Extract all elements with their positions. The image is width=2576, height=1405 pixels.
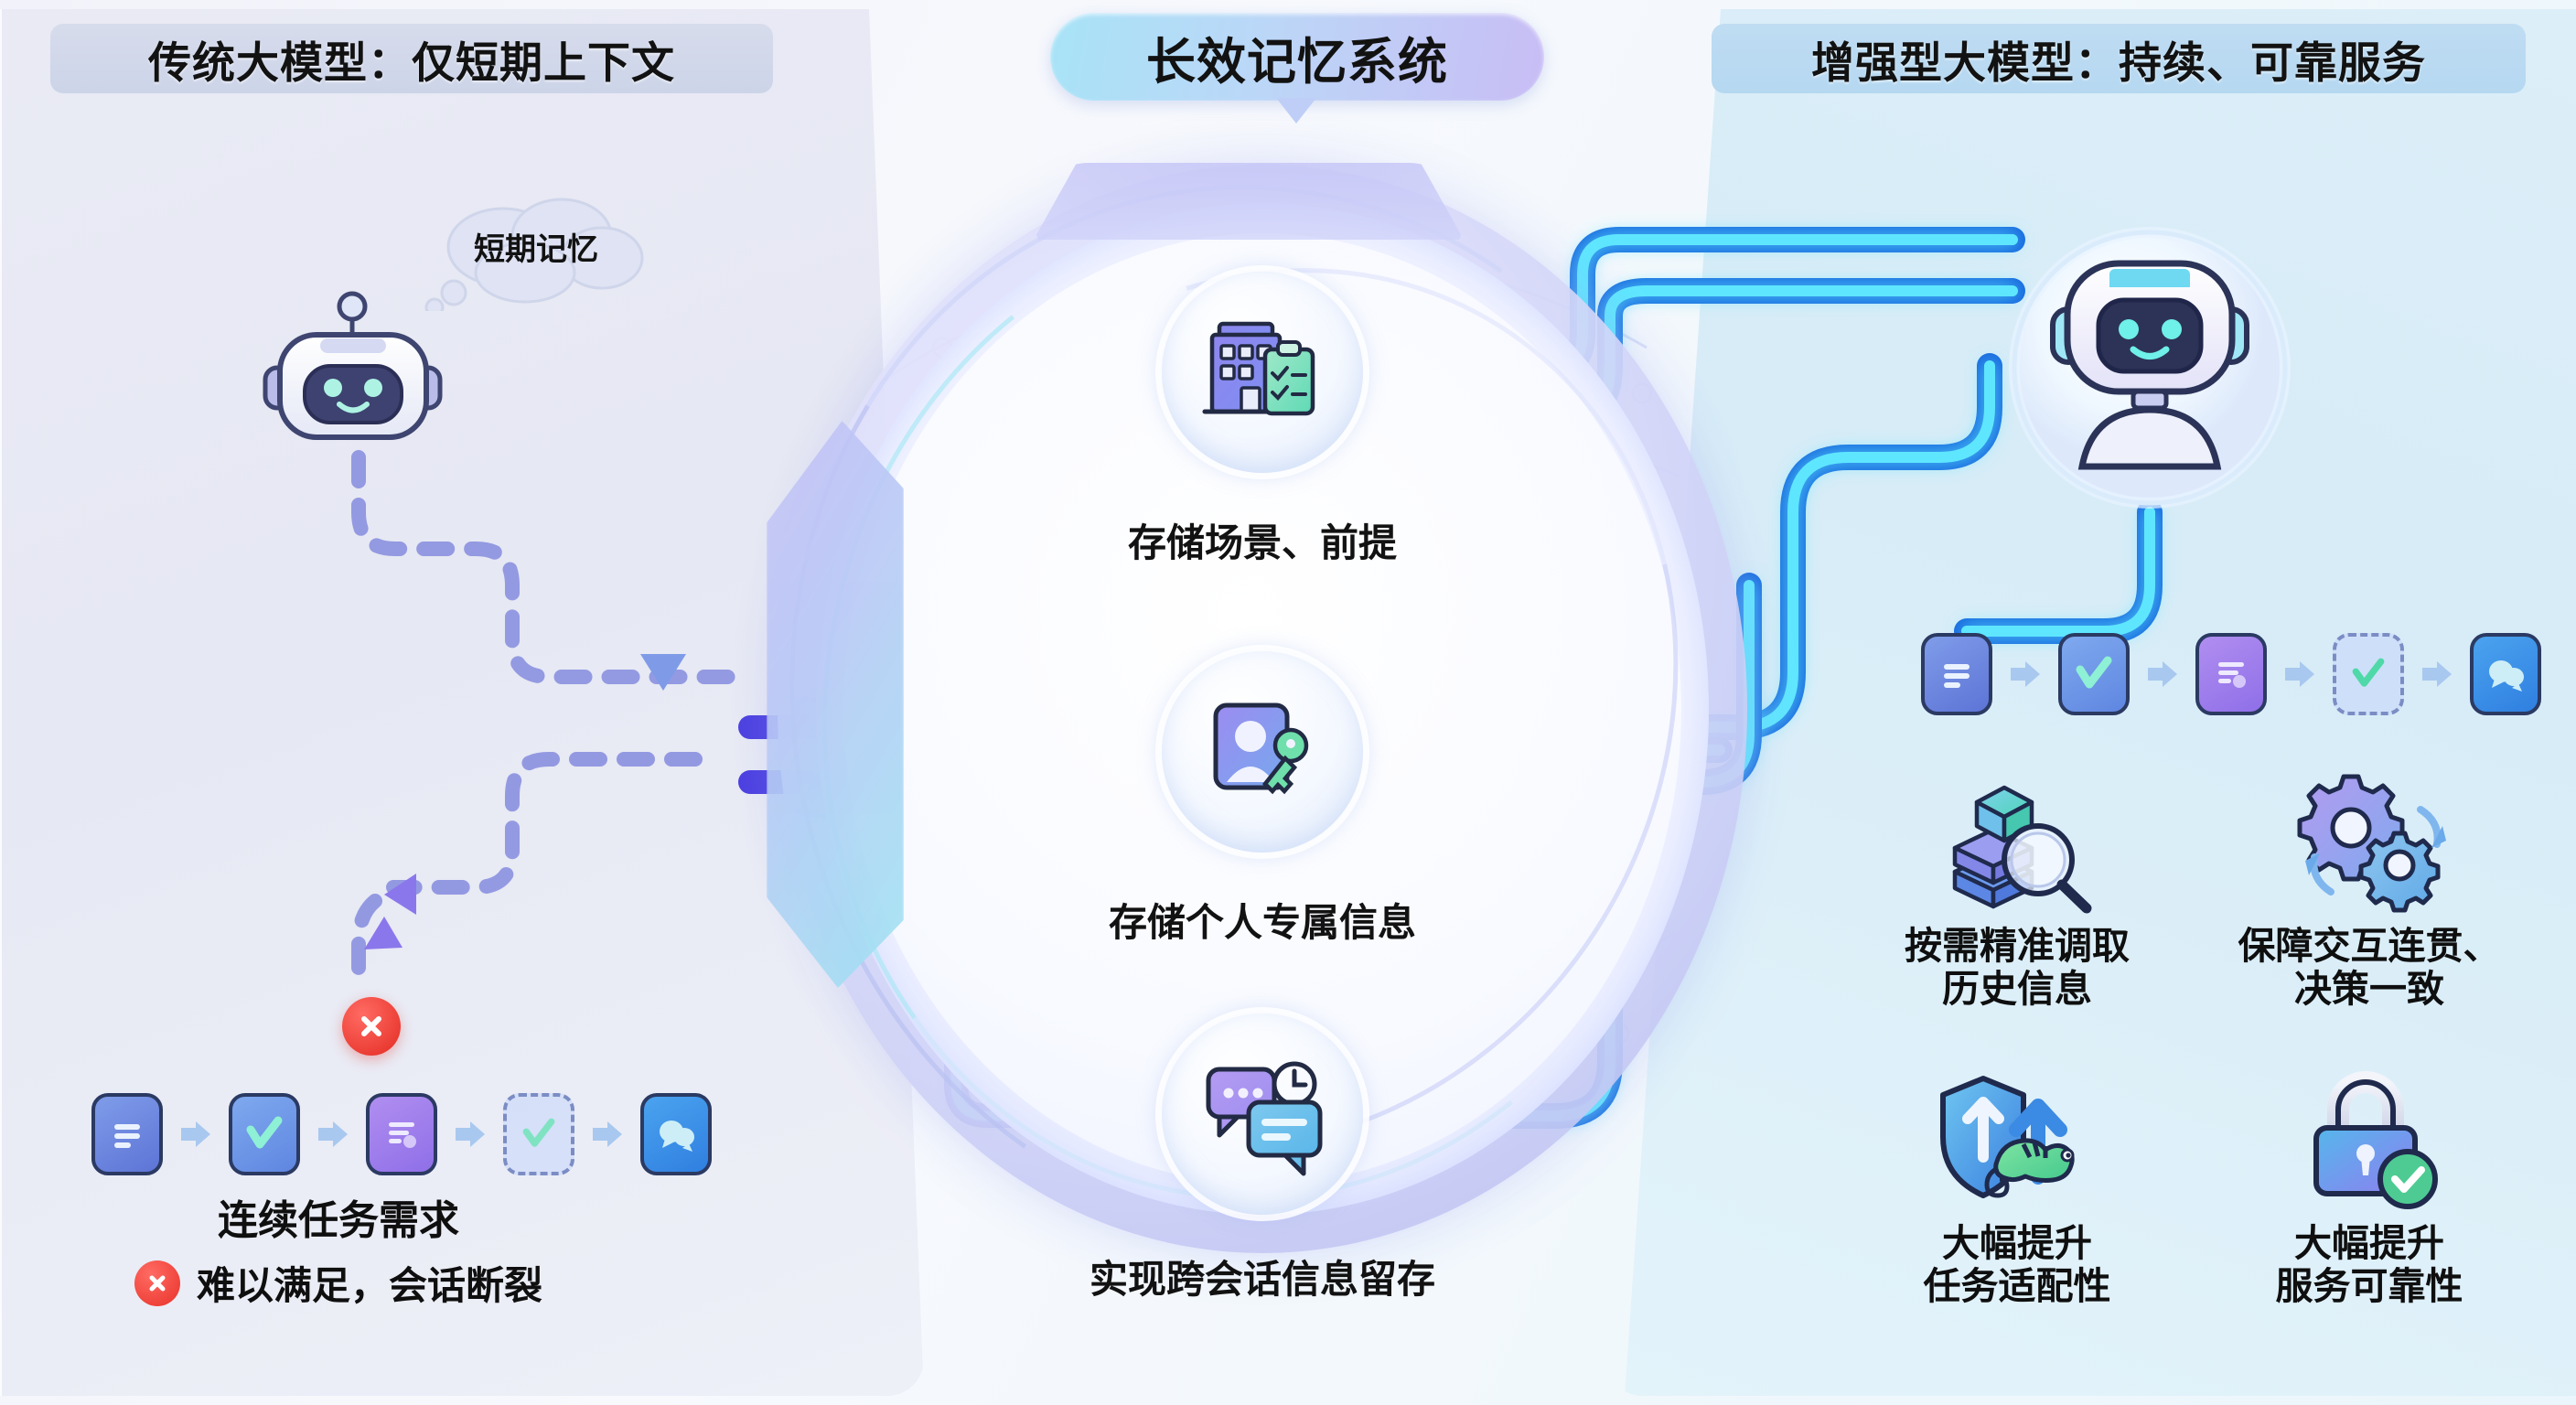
feature-retrieval: 按需精准调取 历史信息 bbox=[1871, 759, 2163, 1010]
chevron-right-icon bbox=[2419, 659, 2455, 690]
feature-retrieval-line1: 按需精准调取 bbox=[1871, 925, 2163, 968]
node-session[interactable] bbox=[1162, 1014, 1363, 1215]
enhanced-robot bbox=[2003, 221, 2296, 514]
feature-consistency-line1: 保障交互连贯、 bbox=[2223, 925, 2516, 968]
left-failure-note: 难以满足，会话断裂 bbox=[55, 1255, 622, 1311]
feature-reliability-line1: 大幅提升 bbox=[2223, 1222, 2516, 1265]
dashed-check-icon bbox=[503, 1093, 574, 1175]
feature-consistency: 保障交互连贯、 决策一致 bbox=[2223, 759, 2516, 1010]
red-x-icon bbox=[134, 1260, 180, 1306]
chat-bubble-icon bbox=[640, 1093, 712, 1175]
arrow-to-x bbox=[364, 917, 402, 949]
chevron-right-icon bbox=[2281, 659, 2318, 690]
right-task-chain bbox=[1921, 633, 2541, 715]
node-profile-label: 存储个人专属信息 bbox=[979, 892, 1546, 948]
feature-reliability: 大幅提升 服务可靠性 bbox=[2223, 1056, 2516, 1307]
feature-consistency-line2: 决策一致 bbox=[2223, 968, 2516, 1011]
feature-retrieval-line2: 历史信息 bbox=[1871, 968, 2163, 1011]
node-profile[interactable] bbox=[1162, 651, 1363, 853]
chevron-right-icon bbox=[315, 1119, 351, 1150]
legacy-robot-icon bbox=[254, 291, 451, 446]
feature-reliability-line2: 服务可靠性 bbox=[2223, 1265, 2516, 1308]
chat-clock-icon bbox=[1192, 1046, 1334, 1183]
chevron-right-icon bbox=[452, 1119, 488, 1150]
chat-bubble-icon bbox=[2470, 633, 2541, 715]
feature-adaptability: 大幅提升 任务适配性 bbox=[1871, 1056, 2163, 1307]
document-dot-icon bbox=[366, 1093, 437, 1175]
center-title-badge: 长效记忆系统 bbox=[1050, 13, 1544, 101]
lock-check-icon bbox=[2223, 1056, 2516, 1217]
database-magnifier-icon bbox=[1871, 759, 2163, 919]
left-chain-title: 连续任务需求 bbox=[55, 1187, 622, 1246]
feature-adaptability-line2: 任务适配性 bbox=[1871, 1265, 2163, 1308]
node-scene[interactable] bbox=[1162, 272, 1363, 473]
red-x-icon-break bbox=[342, 997, 401, 1056]
hub-left-blob bbox=[767, 421, 904, 988]
document-lines-icon bbox=[91, 1093, 163, 1175]
building-clipboard-icon bbox=[1194, 304, 1331, 441]
gears-cycle-icon bbox=[2223, 759, 2516, 919]
right-panel-title: 增强型大模型：持续、可靠服务 bbox=[1712, 24, 2526, 93]
left-task-chain bbox=[91, 1093, 712, 1175]
chevron-right-icon bbox=[2144, 659, 2181, 690]
check-mark-icon bbox=[2058, 633, 2130, 715]
id-card-key-icon bbox=[1194, 683, 1331, 820]
dashed-check-icon bbox=[2333, 633, 2404, 715]
chevron-right-icon bbox=[177, 1119, 214, 1150]
document-dot-icon bbox=[2195, 633, 2267, 715]
shield-chameleon-icon bbox=[1871, 1056, 2163, 1217]
infographic-canvas: 传统大模型：仅短期上下文 长效记忆系统 增强型大模型：持续、可靠服务 短期记忆 bbox=[0, 0, 2576, 1405]
document-lines-icon bbox=[1921, 633, 1992, 715]
node-scene-label: 存储场景、前提 bbox=[979, 512, 1546, 568]
left-panel-title: 传统大模型：仅短期上下文 bbox=[50, 24, 773, 93]
left-failure-text: 难以满足，会话断裂 bbox=[197, 1255, 542, 1311]
node-session-label: 实现跨会话信息留存 bbox=[979, 1249, 1546, 1304]
check-mark-icon bbox=[229, 1093, 300, 1175]
center-title-pointer bbox=[1276, 98, 1316, 123]
feature-adaptability-line1: 大幅提升 bbox=[1871, 1222, 2163, 1265]
thought-cloud-label: 短期记忆 bbox=[430, 224, 642, 269]
chevron-right-icon bbox=[2007, 659, 2044, 690]
chevron-right-icon bbox=[589, 1119, 626, 1150]
arrow-out-fail bbox=[384, 874, 416, 915]
